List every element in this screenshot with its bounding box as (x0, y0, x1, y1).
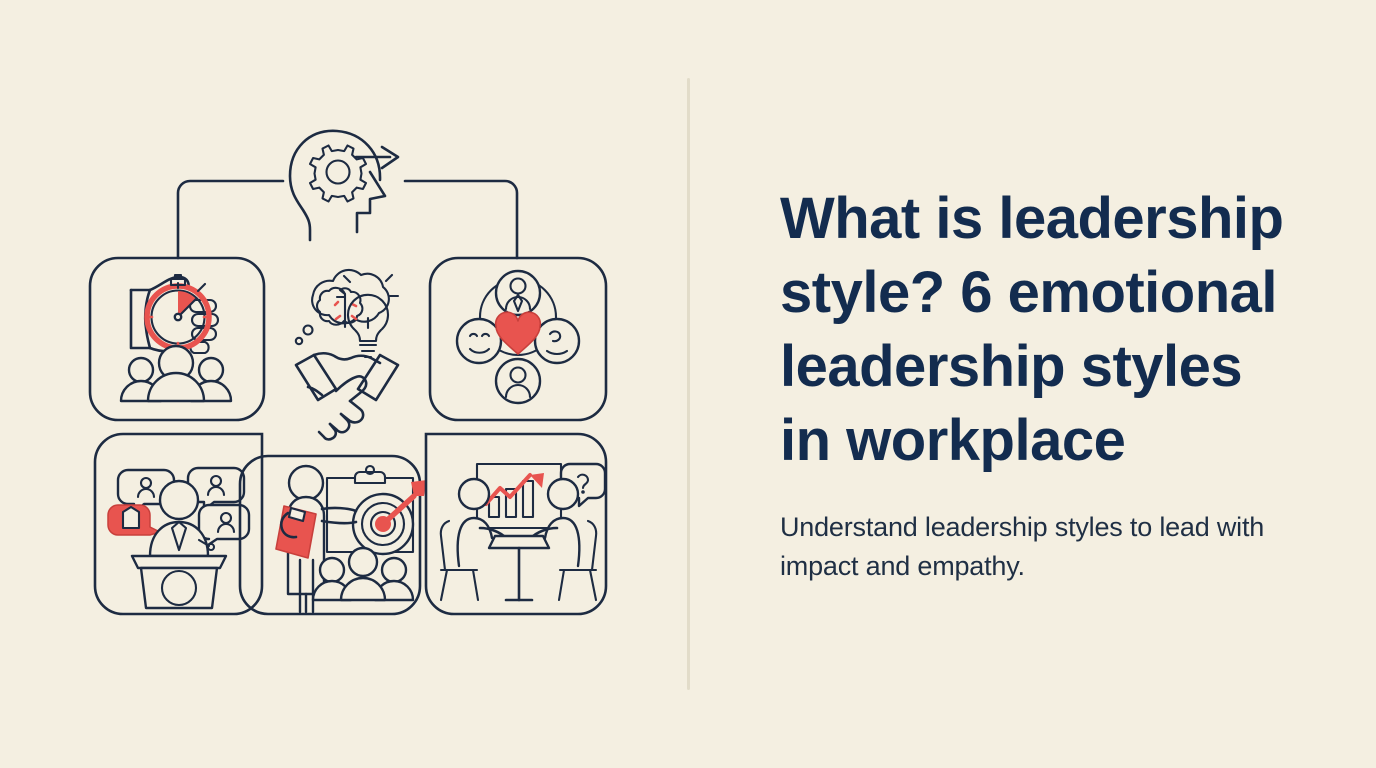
page-subtitle: Understand leadership styles to lead wit… (780, 508, 1270, 586)
presenter-target-icon (276, 466, 427, 612)
heart-icon (496, 312, 541, 354)
brain-icon (317, 288, 362, 327)
audience-group-icon (313, 548, 413, 600)
podium-speaker-icon (108, 468, 249, 608)
speech-bubble-red (108, 505, 160, 535)
leadership-styles-diagram: .ln { fill:none; stroke:#1d2b42; stroke-… (0, 0, 688, 768)
slide-root: .ln { fill:none; stroke:#1d2b42; stroke-… (0, 0, 1376, 768)
page-title: What is leadership style? 6 emotional le… (780, 182, 1290, 478)
team-group-icon (121, 346, 231, 401)
gear-icon (310, 146, 366, 202)
connector-bracket (178, 181, 517, 258)
meeting-growth-chart-icon (441, 464, 605, 600)
vertical-divider (687, 78, 690, 690)
handshake-brain-idea-icon (296, 270, 398, 439)
handshake-icon (296, 353, 398, 439)
illustration-panel: .ln { fill:none; stroke:#1d2b42; stroke-… (0, 0, 688, 768)
team-heart-circle-icon (457, 271, 579, 403)
head-gear-arrow-icon (290, 131, 398, 240)
text-panel: What is leadership style? 6 emotional le… (780, 0, 1300, 768)
stopwatch-team-icon (121, 275, 231, 401)
